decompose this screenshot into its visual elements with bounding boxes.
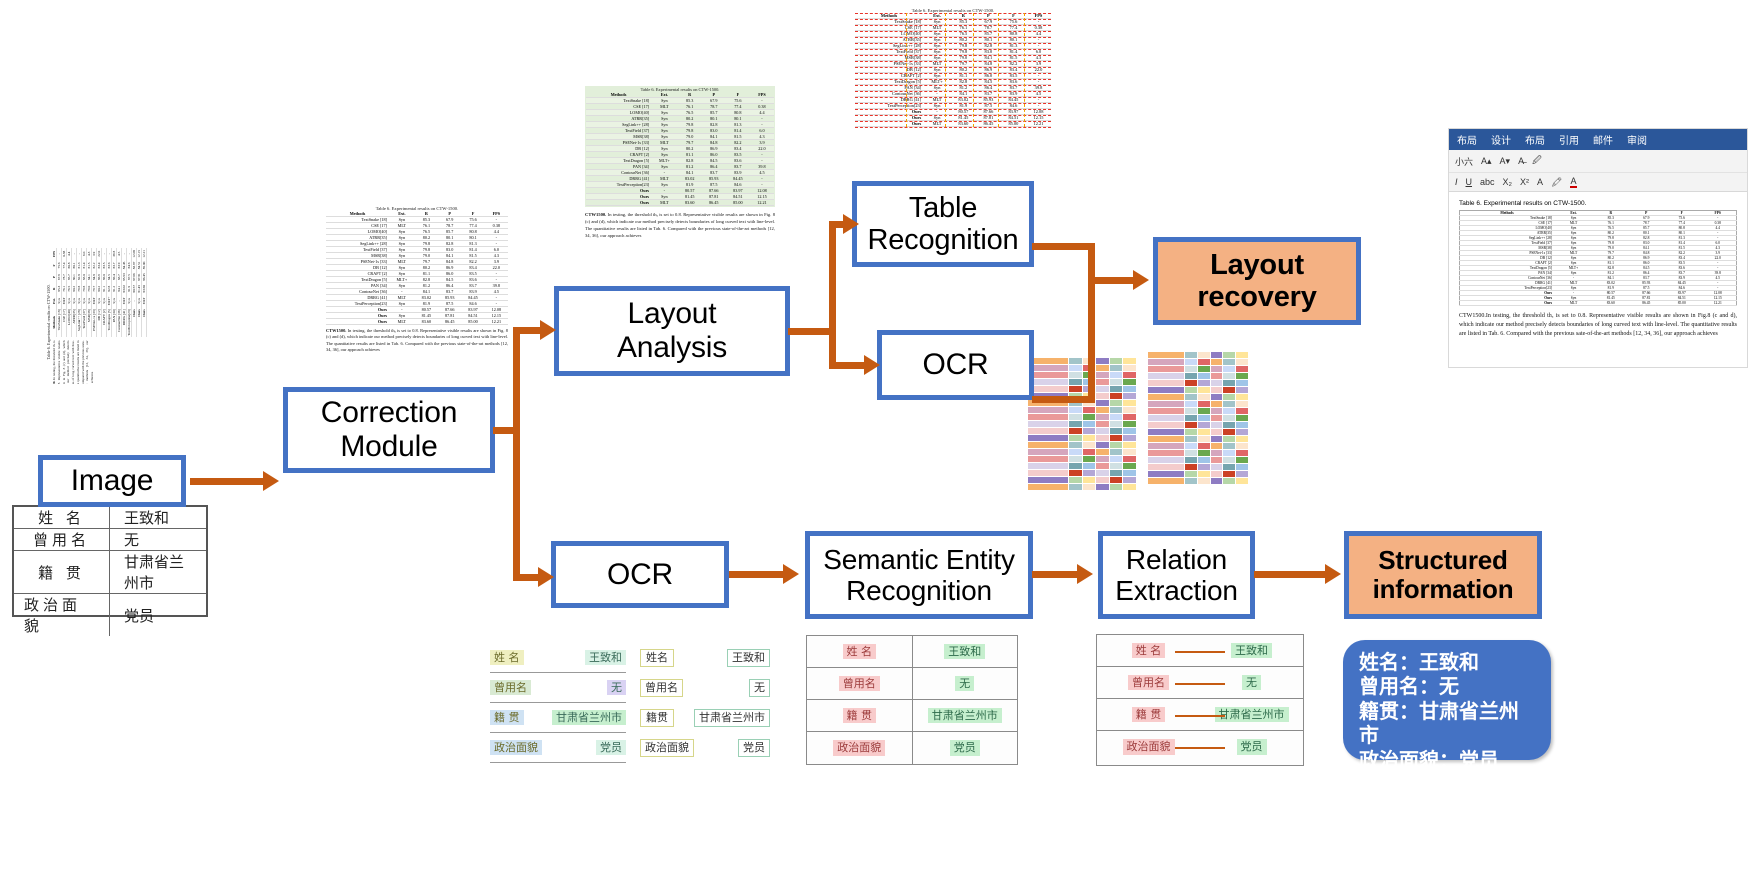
ocr-cell-box bbox=[1223, 380, 1235, 386]
ser-value-cell: 无 bbox=[912, 668, 1018, 699]
cell-detection-overlay bbox=[855, 13, 1051, 127]
node-ocr-top[interactable]: OCR bbox=[877, 330, 1034, 400]
ocr-cell-box bbox=[1069, 421, 1082, 427]
ocr-cell-box bbox=[1236, 471, 1248, 477]
ocr-cell-box bbox=[1185, 457, 1197, 463]
id-card-value: 无 bbox=[110, 529, 206, 551]
column-detection-line bbox=[973, 13, 974, 127]
ocr-cell-box bbox=[1110, 407, 1123, 413]
corrected-snippet-paragraph: CTW1500. In testing, the threshold thₐ i… bbox=[326, 328, 508, 354]
ocr-cell-box bbox=[1110, 463, 1123, 469]
ocr-cell-box bbox=[1069, 470, 1082, 476]
ocr-cell-box bbox=[1069, 358, 1082, 364]
ocr-cell-box bbox=[1185, 422, 1197, 428]
re-value-entity: 甘肃省兰州市 bbox=[1215, 707, 1289, 723]
node-image[interactable]: Image bbox=[38, 455, 186, 507]
ser-key-entity: 政治面貌 bbox=[833, 740, 885, 756]
ocr-cell-box bbox=[1236, 415, 1248, 421]
id-card-value: 党员 bbox=[110, 594, 206, 636]
node-layout-analysis[interactable]: Layout Analysis bbox=[554, 286, 790, 376]
ocr-cell-box bbox=[1198, 429, 1210, 435]
ocr-cell-box bbox=[1148, 443, 1184, 449]
ocr-cell-box bbox=[1211, 464, 1223, 470]
table-row: OursMLT83.6086.4585.0012.21 bbox=[142, 248, 147, 337]
node-ser-line2: Recognition bbox=[846, 575, 992, 606]
ocr-cell-box bbox=[1096, 484, 1109, 490]
ocr-cell-box bbox=[1223, 359, 1235, 365]
re-value-entity: 王致和 bbox=[1231, 643, 1272, 659]
arrow-table-recognition-out bbox=[1032, 243, 1094, 250]
italic-icon[interactable]: I bbox=[1455, 177, 1458, 187]
ocr-box-key: 曾用名 bbox=[640, 679, 683, 697]
word-tab-4[interactable]: 邮件 bbox=[1593, 132, 1613, 147]
grow-font-icon[interactable]: A▴ bbox=[1481, 156, 1492, 167]
ocr-cell-box bbox=[1110, 442, 1123, 448]
ocr-cell-box bbox=[1185, 450, 1197, 456]
ocr-cell-box bbox=[1110, 421, 1123, 427]
ser-key-cell: 政治面貌 bbox=[807, 732, 912, 764]
corrected-paper-snippet: Table 6. Experimental results on CTW-150… bbox=[326, 206, 508, 366]
re-value-entity: 无 bbox=[1242, 675, 1261, 691]
ser-key-entity: 姓 名 bbox=[843, 644, 877, 660]
ocr-cell-box bbox=[1096, 449, 1109, 455]
arrowhead-image-to-correction bbox=[263, 471, 279, 491]
table-cell: TextPerception[23] bbox=[127, 307, 132, 337]
ocr-cell-box bbox=[1211, 478, 1223, 484]
structured-line-2: 曾用名：无 bbox=[1359, 674, 1535, 698]
ocr-cell-box bbox=[1148, 429, 1184, 435]
word-ribbon: 布局 设计 布局 引用 邮件 审阅 bbox=[1449, 129, 1747, 150]
node-structured-info-line2: information bbox=[1373, 574, 1514, 604]
ocr-cell-box bbox=[1185, 443, 1197, 449]
ocr-cell-box bbox=[1223, 387, 1235, 393]
table-cell: MLT bbox=[1554, 301, 1593, 306]
table-cell: Ours bbox=[142, 307, 147, 337]
column-detection-line bbox=[906, 13, 907, 127]
ocr-cell-box bbox=[1211, 373, 1223, 379]
table-cell: 12.21 bbox=[1699, 301, 1736, 306]
ocr-box-key: 姓名 bbox=[640, 649, 674, 667]
font-color-icon[interactable]: A bbox=[1570, 176, 1576, 188]
row-detection-line bbox=[855, 127, 1051, 128]
ocr-cell-box bbox=[1123, 358, 1136, 364]
node-correction-module-line1: Correction bbox=[321, 396, 457, 429]
re-row: 政治面貌党员 bbox=[1097, 731, 1303, 763]
ocr-cell-box bbox=[1083, 435, 1096, 441]
ocr-cell-box bbox=[1123, 463, 1136, 469]
ocr-cell-box bbox=[1069, 386, 1082, 392]
ocr-cell-box bbox=[1198, 380, 1210, 386]
word-tab-2[interactable]: 布局 bbox=[1525, 132, 1545, 147]
ocr-cell-box bbox=[1123, 379, 1136, 385]
layout-analysis-snippet: Table 6. Experimental results on CTW-150… bbox=[585, 86, 775, 256]
ocr-cell-box bbox=[1198, 394, 1210, 400]
row-detection-line bbox=[855, 43, 1051, 44]
structured-line-3: 籍贯：甘肃省兰州市 bbox=[1359, 699, 1535, 748]
ocr-cell-box bbox=[1110, 484, 1123, 490]
table-cell: Ours bbox=[586, 200, 651, 206]
table-cell: MLT bbox=[651, 200, 678, 206]
ocr-cell-box bbox=[1123, 414, 1136, 420]
table-cell: 85.00 bbox=[142, 260, 147, 272]
ocr-cell-box bbox=[1236, 464, 1248, 470]
node-re-line2: Extraction bbox=[1115, 575, 1238, 606]
node-layout-analysis-line1: Layout bbox=[628, 297, 717, 330]
ocr-cell-box bbox=[1148, 450, 1184, 456]
id-card-value: 甘肃省兰州市 bbox=[110, 551, 206, 594]
subscript-icon[interactable]: X₂ bbox=[1503, 177, 1513, 187]
re-row: 曾用名无 bbox=[1097, 667, 1303, 699]
ocr-cell-box bbox=[1198, 352, 1210, 358]
ocr-cell-box bbox=[1185, 352, 1197, 358]
ocr-cell-box bbox=[1096, 477, 1109, 483]
ser-value-cell: 党员 bbox=[912, 732, 1018, 764]
id-card-key: 曾用名 bbox=[14, 529, 110, 551]
ocr-cell-box bbox=[1110, 393, 1123, 399]
node-structured-information[interactable]: Structured information bbox=[1344, 531, 1542, 619]
structured-line-1: 姓名：王致和 bbox=[1359, 650, 1535, 674]
ocr-cell-box bbox=[1069, 484, 1082, 490]
ocr-cell-box bbox=[1123, 386, 1136, 392]
ocr-cell-box bbox=[1185, 380, 1197, 386]
ocr-cell-box bbox=[1223, 373, 1235, 379]
ocr-box-row: 曾用名无 bbox=[640, 673, 770, 703]
ocr-cell-box bbox=[1083, 470, 1096, 476]
ser-key-entity: 曾用名 bbox=[839, 676, 880, 692]
ocr-cell-box bbox=[1096, 421, 1109, 427]
ocr-cell-box bbox=[1148, 359, 1184, 365]
ocr-cell-box bbox=[1069, 435, 1082, 441]
ser-key-cell: 籍 贯 bbox=[807, 700, 912, 731]
re-key-entity: 籍 贯 bbox=[1132, 707, 1166, 723]
ocr-detection-visual-left bbox=[1028, 358, 1136, 490]
node-ocr-bottom-label: OCR bbox=[607, 558, 673, 592]
re-key-entity: 曾用名 bbox=[1128, 675, 1169, 691]
table-cell: Ours bbox=[1460, 301, 1555, 306]
ocr-cell-box bbox=[1211, 359, 1223, 365]
ocr-cell-box bbox=[1236, 478, 1248, 484]
ocr-example-boxes: 姓名王致和曾用名无籍贯甘肃省兰州市政治面貌党员 bbox=[640, 643, 770, 763]
ocr-cell-box bbox=[1069, 449, 1082, 455]
row-detection-line bbox=[855, 49, 1051, 50]
ocr-cell-box bbox=[1110, 435, 1123, 441]
ocr-cell-box bbox=[1096, 400, 1109, 406]
word-tab-0[interactable]: 布局 bbox=[1457, 132, 1477, 147]
ocr-cell-box bbox=[1198, 464, 1210, 470]
ocr-cell-box bbox=[1148, 380, 1184, 386]
ocr-cell-box bbox=[1236, 443, 1248, 449]
ocr-cell-box bbox=[1236, 450, 1248, 456]
ocr-cell-box bbox=[1185, 394, 1197, 400]
ocr-cell-box bbox=[1123, 393, 1136, 399]
snippet-paragraph-lead: CTW1500. bbox=[52, 381, 56, 384]
ocr-cell-box bbox=[1185, 429, 1197, 435]
ocr-cell-box bbox=[1096, 379, 1109, 385]
row-detection-line bbox=[855, 115, 1051, 116]
diagram-canvas: Table 6. Experimental results on CTW-150… bbox=[0, 0, 1758, 870]
table-cell: 83.60 bbox=[1593, 301, 1628, 306]
ocr-cell-box bbox=[1096, 435, 1109, 441]
ocr-cell-box bbox=[1096, 456, 1109, 462]
arrow-merge-bus bbox=[1088, 243, 1095, 403]
ocr-cell-box bbox=[1069, 372, 1082, 378]
ocr-cell-box bbox=[1148, 436, 1184, 442]
ocr-cell-box bbox=[1096, 470, 1109, 476]
ocr-cell-box bbox=[1223, 471, 1235, 477]
ocr-value-token: 甘肃省兰州市 bbox=[552, 710, 626, 726]
node-semantic-entity-recognition[interactable]: Semantic Entity Recognition bbox=[805, 531, 1033, 619]
ocr-cell-box bbox=[1069, 463, 1082, 469]
ser-value-cell: 甘肃省兰州市 bbox=[912, 700, 1018, 731]
id-card-table: 姓 名 王致和 曾用名 无 籍 贯 甘肃省兰州市 政治面貌 党员 bbox=[12, 505, 208, 617]
ocr-cell-box bbox=[1110, 470, 1123, 476]
table-cell: 85.00 bbox=[461, 319, 484, 325]
font-size-value[interactable]: 小六 bbox=[1455, 155, 1473, 168]
ocr-cell-box bbox=[1123, 428, 1136, 434]
arrowhead-ocr-to-ser bbox=[783, 564, 799, 584]
ocr-cell-box bbox=[1096, 428, 1109, 434]
text-effect-icon[interactable]: A bbox=[1537, 177, 1543, 187]
row-detection-line bbox=[855, 79, 1051, 80]
table-row: OursMLT83.6086.4585.0012.21 bbox=[1460, 301, 1737, 306]
snippet-table: MethodsExt.RPFFPSTextSnake [18]Syn85.367… bbox=[52, 248, 147, 337]
table-cell: 12.21 bbox=[485, 319, 508, 325]
ocr-cell-box bbox=[1110, 477, 1123, 483]
ocr-cell-box bbox=[1123, 442, 1136, 448]
ocr-box-row: 籍贯甘肃省兰州市 bbox=[640, 703, 770, 733]
ocr-cell-box bbox=[1028, 421, 1068, 427]
ocr-cell-box bbox=[1028, 435, 1068, 441]
ocr-cell-box bbox=[1211, 387, 1223, 393]
table-recognition-snippet: Table 6. Experimental results on CTW-150… bbox=[855, 8, 1051, 176]
ocr-cell-box bbox=[1028, 428, 1068, 434]
ocr-cell-box bbox=[1110, 386, 1123, 392]
ocr-cell-box bbox=[1185, 387, 1197, 393]
ocr-cell-box bbox=[1211, 429, 1223, 435]
node-ser-line1: Semantic Entity bbox=[823, 544, 1015, 575]
arrowhead-to-table-recognition bbox=[843, 214, 859, 234]
ocr-cell-box bbox=[1185, 415, 1197, 421]
node-table-recognition-line2: Recognition bbox=[868, 224, 1019, 256]
ocr-detection-visual-right bbox=[1148, 352, 1248, 486]
row-detection-line bbox=[855, 19, 1051, 20]
ocr-cell-box bbox=[1110, 372, 1123, 378]
node-structured-info-line1: Structured bbox=[1378, 545, 1507, 575]
ser-value-cell: 王致和 bbox=[912, 636, 1018, 667]
la-snippet-paragraph: CTW1500. In testing, the threshold thₐ i… bbox=[585, 212, 775, 240]
arrowhead-re-to-structured bbox=[1325, 564, 1341, 584]
word-document-preview: 布局 设计 布局 引用 邮件 审阅 小六 A▴ A▾ A̶ 🖉 I U abc … bbox=[1448, 128, 1748, 368]
ocr-cell-box bbox=[1223, 408, 1235, 414]
ocr-cell-box bbox=[1096, 358, 1109, 364]
superscript-icon[interactable]: X² bbox=[1520, 177, 1529, 187]
source-paper-snippet-rotated: Table 6. Experimental results on CTW-150… bbox=[46, 236, 206, 384]
word-font-toolbar: 小六 A▴ A▾ A̶ 🖉 bbox=[1449, 150, 1747, 173]
ocr-cell-box bbox=[1069, 442, 1082, 448]
ocr-cell-box bbox=[1083, 449, 1096, 455]
ocr-cell-box bbox=[1198, 436, 1210, 442]
node-ocr-top-label: OCR bbox=[922, 348, 988, 382]
ocr-cell-box bbox=[1223, 429, 1235, 435]
node-correction-module-line2: Module bbox=[340, 430, 437, 463]
ocr-example-row: 籍 贯甘肃省兰州市 bbox=[490, 703, 626, 733]
row-detection-line bbox=[855, 109, 1051, 110]
ocr-cell-box bbox=[1148, 352, 1184, 358]
table-cell: MLT bbox=[142, 295, 147, 308]
snippet-paragraph: CTW1500. In testing, the threshold thₐ i… bbox=[52, 340, 147, 384]
ocr-box-value: 王致和 bbox=[727, 649, 770, 667]
strikethrough-icon[interactable]: abc bbox=[1480, 177, 1495, 187]
ocr-cell-box bbox=[1223, 464, 1235, 470]
node-table-recognition-line1: Table bbox=[909, 192, 977, 224]
row-detection-line bbox=[855, 13, 1051, 14]
ocr-cell-box bbox=[1223, 478, 1235, 484]
ocr-cell-box bbox=[1083, 421, 1096, 427]
arrowhead-to-ocr-top bbox=[864, 355, 880, 375]
ocr-cell-box bbox=[1148, 422, 1184, 428]
arrow-ocr-top-out bbox=[1032, 396, 1094, 403]
ocr-cell-box bbox=[1236, 366, 1248, 372]
node-ocr-bottom[interactable]: OCR bbox=[551, 541, 729, 608]
ocr-key-token: 政治面貌 bbox=[490, 740, 542, 756]
ocr-cell-box bbox=[1211, 450, 1223, 456]
ocr-cell-box bbox=[1083, 463, 1096, 469]
word-doc-table: MethodsExt.RPFFPSTextSnake [18]Syn85.367… bbox=[1459, 210, 1737, 306]
ocr-value-token: 党员 bbox=[596, 740, 626, 756]
word-tab-3[interactable]: 引用 bbox=[1559, 132, 1579, 147]
ocr-example-table: 姓 名王致和曾用名无籍 贯甘肃省兰州市政治面貌党员 bbox=[490, 643, 626, 763]
ocr-box-key: 籍贯 bbox=[640, 709, 674, 727]
ocr-cell-box bbox=[1223, 401, 1235, 407]
ocr-cell-box bbox=[1069, 456, 1082, 462]
node-layout-recovery-line1: Layout bbox=[1210, 249, 1304, 281]
structured-line-4: 政治面貌：党员 bbox=[1359, 748, 1535, 772]
table-cell: 86.45 bbox=[702, 200, 726, 206]
ocr-cell-box bbox=[1236, 387, 1248, 393]
arrow-image-to-correction bbox=[190, 478, 265, 485]
ocr-cell-box bbox=[1110, 379, 1123, 385]
ocr-cell-box bbox=[1148, 478, 1184, 484]
node-correction-module[interactable]: Correction Module bbox=[283, 387, 495, 473]
ocr-cell-box bbox=[1123, 470, 1136, 476]
ocr-box-row: 政治面貌党员 bbox=[640, 733, 770, 763]
ocr-cell-box bbox=[1083, 442, 1096, 448]
ocr-cell-box bbox=[1185, 359, 1197, 365]
ocr-cell-box bbox=[1123, 372, 1136, 378]
row-detection-line bbox=[855, 25, 1051, 26]
ser-row: 姓 名王致和 bbox=[807, 636, 1017, 668]
word-tab-5[interactable]: 审阅 bbox=[1627, 132, 1647, 147]
ocr-cell-box bbox=[1236, 457, 1248, 463]
ocr-cell-box bbox=[1223, 457, 1235, 463]
id-card-key: 政治面貌 bbox=[14, 594, 110, 636]
table-cell: 83.60 bbox=[678, 200, 702, 206]
row-detection-line bbox=[855, 73, 1051, 74]
ocr-cell-box bbox=[1198, 401, 1210, 407]
shrink-font-icon[interactable]: A▾ bbox=[1500, 156, 1511, 167]
re-key-entity: 政治面貌 bbox=[1123, 739, 1175, 755]
ocr-cell-box bbox=[1028, 449, 1068, 455]
ocr-cell-box bbox=[1069, 428, 1082, 434]
ocr-cell-box bbox=[1236, 380, 1248, 386]
ocr-cell-box bbox=[1028, 358, 1068, 364]
ocr-cell-box bbox=[1110, 428, 1123, 434]
word-tab-1[interactable]: 设计 bbox=[1491, 132, 1511, 147]
ocr-key-token: 曾用名 bbox=[490, 680, 531, 696]
ocr-cell-box bbox=[1028, 463, 1068, 469]
node-layout-analysis-line2: Analysis bbox=[617, 331, 727, 364]
ocr-cell-box bbox=[1211, 443, 1223, 449]
ocr-cell-box bbox=[1096, 442, 1109, 448]
ocr-box-value: 无 bbox=[749, 679, 770, 697]
ocr-cell-box bbox=[1096, 365, 1109, 371]
node-layout-recovery-line2: recovery bbox=[1197, 281, 1316, 313]
re-relation-arrow bbox=[1175, 683, 1224, 685]
ocr-cell-box bbox=[1236, 408, 1248, 414]
ser-value-entity: 王致和 bbox=[944, 644, 985, 660]
ocr-cell-box bbox=[1110, 365, 1123, 371]
ocr-cell-box bbox=[1211, 422, 1223, 428]
node-relation-extraction[interactable]: Relation Extraction bbox=[1098, 531, 1255, 619]
table-cell: 86.45 bbox=[142, 271, 147, 283]
underline-icon[interactable]: U bbox=[1466, 177, 1473, 187]
ocr-cell-box bbox=[1083, 456, 1096, 462]
ocr-cell-box bbox=[1236, 373, 1248, 379]
highlight-icon[interactable]: 🖉 bbox=[1532, 153, 1542, 169]
ocr-cell-box bbox=[1223, 366, 1235, 372]
ser-key-entity: 籍 贯 bbox=[843, 708, 877, 724]
arrow-correction-bus bbox=[513, 330, 520, 580]
ocr-cell-box bbox=[1198, 387, 1210, 393]
ocr-cell-box bbox=[1028, 414, 1068, 420]
ocr-cell-box bbox=[1096, 393, 1109, 399]
ocr-example-row: 曾用名无 bbox=[490, 673, 626, 703]
ocr-cell-box bbox=[1198, 450, 1210, 456]
ocr-cell-box bbox=[1198, 366, 1210, 372]
ocr-cell-box bbox=[1148, 401, 1184, 407]
ocr-key-token: 姓 名 bbox=[490, 650, 524, 666]
node-layout-recovery[interactable]: Layout recovery bbox=[1153, 237, 1361, 325]
ocr-cell-box bbox=[1185, 373, 1197, 379]
arrow-re-to-structured bbox=[1254, 571, 1332, 578]
ocr-cell-box bbox=[1028, 379, 1068, 385]
re-row: 姓 名王致和 bbox=[1097, 635, 1303, 667]
clear-format-icon[interactable]: A̶ bbox=[1518, 156, 1524, 166]
ser-value-entity: 无 bbox=[955, 676, 974, 692]
table-cell: Ours bbox=[326, 319, 389, 325]
ocr-cell-box bbox=[1185, 471, 1197, 477]
ocr-cell-box bbox=[1123, 449, 1136, 455]
ocr-cell-box bbox=[1028, 386, 1068, 392]
text-highlight-color-icon[interactable]: 🖍 bbox=[1551, 177, 1562, 188]
ocr-cell-box bbox=[1223, 394, 1235, 400]
ocr-example-row: 政治面貌党员 bbox=[490, 733, 626, 763]
re-relation-arrow bbox=[1175, 651, 1224, 653]
table-cell: 12.21 bbox=[142, 248, 147, 260]
ser-row: 籍 贯甘肃省兰州市 bbox=[807, 700, 1017, 732]
ocr-cell-box bbox=[1236, 359, 1248, 365]
arrowhead-to-layout-recovery bbox=[1133, 270, 1149, 290]
re-key-entity: 姓 名 bbox=[1132, 643, 1166, 659]
ocr-cell-box bbox=[1198, 478, 1210, 484]
ocr-cell-box bbox=[1096, 463, 1109, 469]
ocr-cell-box bbox=[1211, 380, 1223, 386]
node-table-recognition[interactable]: Table Recognition bbox=[852, 181, 1034, 267]
arrowhead-ser-to-re bbox=[1077, 564, 1093, 584]
ocr-cell-box bbox=[1110, 456, 1123, 462]
corrected-snippet-table: MethodsExt.RPFFPSTextSnake [18]Syn85.367… bbox=[326, 211, 508, 325]
row-detection-line bbox=[855, 55, 1051, 56]
